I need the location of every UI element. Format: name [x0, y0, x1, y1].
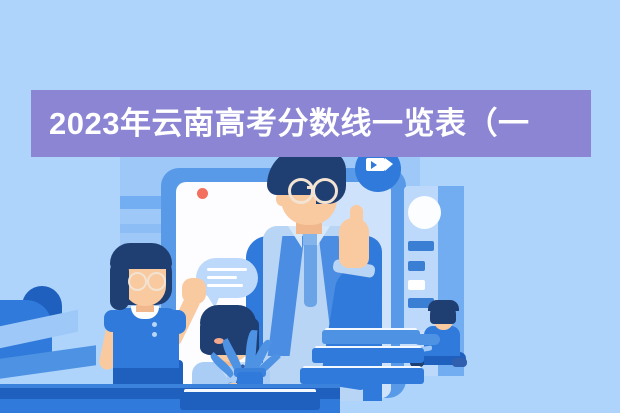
woman-button	[152, 322, 157, 327]
recording-dot-icon	[197, 188, 208, 199]
glasses-icon	[288, 178, 314, 204]
image-canvas: 2023年云南高考分数线一览表（一	[0, 0, 620, 413]
list-item	[408, 261, 425, 271]
glasses-icon	[147, 272, 166, 291]
speech-bubble-line	[207, 276, 237, 279]
book	[300, 368, 424, 384]
book	[180, 392, 320, 410]
woman-hair-side	[110, 262, 129, 310]
glasses-icon	[312, 178, 338, 204]
list-item	[408, 280, 425, 290]
teacher-tie	[304, 245, 317, 307]
speech-bubble-line	[207, 284, 243, 287]
child-hair-side	[200, 320, 215, 354]
book	[312, 348, 424, 363]
play-icon	[371, 161, 377, 169]
glasses-icon	[128, 272, 147, 291]
video-camera-lens-icon	[385, 158, 393, 171]
pointing-finger	[350, 205, 363, 235]
teacher-tie-knot	[303, 232, 317, 246]
woman-sleeve	[166, 310, 186, 334]
page-title: 2023年云南高考分数线一览表（一	[49, 108, 529, 139]
glasses-bridge	[307, 186, 314, 189]
list-item	[408, 241, 434, 251]
avatar	[408, 196, 441, 229]
woman-hand	[182, 278, 206, 304]
title-banner: 2023年云南高考分数线一览表（一	[31, 90, 591, 157]
reader-cap	[428, 300, 459, 311]
speech-bubble-line	[207, 268, 247, 271]
woman-sleeve	[104, 310, 124, 332]
book	[322, 330, 420, 344]
reader-shoe	[452, 358, 467, 367]
woman-button	[152, 332, 157, 337]
